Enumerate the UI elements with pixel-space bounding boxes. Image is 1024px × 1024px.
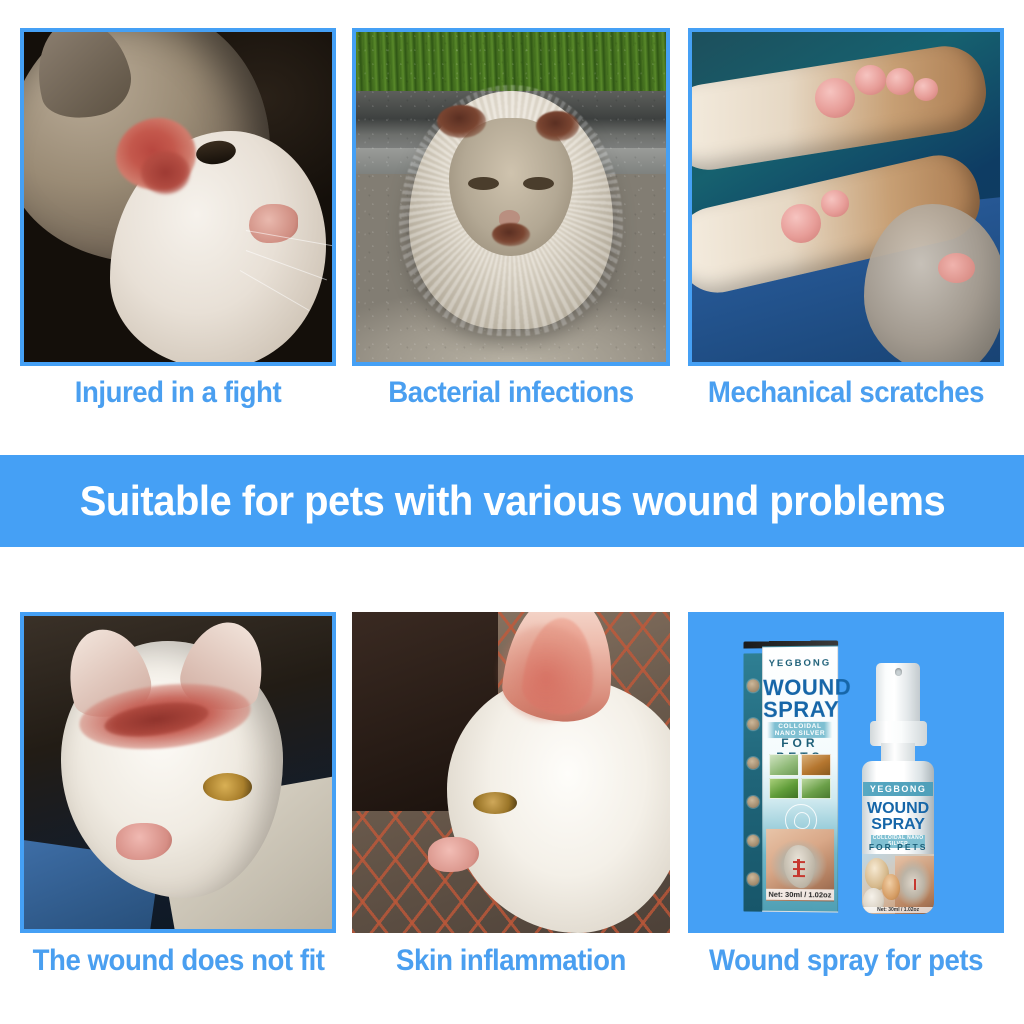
- box-front-panel: YEGBONG WOUND SPRAY COLLOIDAL NANO SILVE…: [762, 645, 838, 913]
- bottle-audience-label: FOR PETS: [863, 842, 933, 852]
- caption-wound-spray-for-pets: Wound spray for pets: [701, 946, 992, 976]
- ingredient-aloe-photo: [769, 754, 799, 775]
- photo-head-wound-cat: [24, 616, 332, 929]
- panel-skin-inflammation: [352, 612, 670, 933]
- box-side-thumb: [747, 873, 759, 885]
- panel-the-wound-does-not-fit: [20, 612, 336, 933]
- caption-skin-inflammation: Skin inflammation: [365, 946, 658, 976]
- caption-bacterial-infections: Bacterial infections: [365, 378, 658, 408]
- bottle-pet-photo: Net: 30ml / 1.02oz: [862, 854, 935, 914]
- caption-injured-in-a-fight: Injured in a fight: [33, 378, 324, 408]
- bottle-cap-button-icon: [895, 668, 902, 675]
- bottle-net-weight: Net: 30ml / 1.02oz: [862, 907, 935, 913]
- banner-suitable-for-pets: Suitable for pets with various wound pro…: [0, 455, 1024, 547]
- box-ingredient-grid: [769, 754, 831, 799]
- photo-inflamed-ear-cat: [352, 612, 670, 933]
- box-paw-photo: Net: 30ml / 1.02oz: [766, 829, 834, 901]
- panel-mechanical-scratches: [688, 28, 1004, 366]
- box-side-thumb: [747, 718, 759, 730]
- photo-product: YEGBONG WOUND SPRAY COLLOIDAL NANO SILVE…: [688, 612, 1004, 933]
- bottle-cat-image: [882, 874, 899, 900]
- banner-text: Suitable for pets with various wound pro…: [79, 477, 944, 525]
- box-side-panel: [744, 653, 764, 912]
- ingredient-mint-photo: [801, 777, 831, 799]
- photo-infected-cat: [356, 32, 666, 362]
- box-side-thumb: [747, 834, 759, 846]
- panel-bacterial-infections: [352, 28, 670, 366]
- box-net-weight: Net: 30ml / 1.02oz: [766, 889, 834, 901]
- product-box: YEGBONG WOUND SPRAY COLLOIDAL NANO SILVE…: [744, 645, 839, 913]
- bottle-title-line2: SPRAY: [863, 817, 933, 833]
- box-brand-label: YEGBONG: [763, 657, 837, 669]
- ingredient-plant-photo: [769, 777, 799, 798]
- box-side-thumb: [747, 679, 759, 691]
- photo-cat-paws: [692, 32, 1000, 362]
- bottle-pump-collar: [870, 721, 927, 746]
- ingredient-spice-photo: [801, 754, 831, 776]
- marketing-image: Injured in a fight Bacterial infections …: [0, 0, 1024, 1024]
- photo-injured-cat: [24, 32, 332, 362]
- box-side-thumb: [747, 795, 759, 807]
- box-title-line2: SPRAY: [763, 698, 837, 720]
- bottle-spray-cap: [876, 663, 920, 723]
- bottle-brand-label: YEGBONG: [863, 782, 933, 796]
- product-bottle: YEGBONG WOUND SPRAY COLLOIDAL NANO SILVE…: [859, 663, 938, 913]
- box-side-thumb: [747, 757, 759, 769]
- bottle-title-line1: WOUND: [863, 801, 933, 817]
- panel-wound-spray-for-pets: YEGBONG WOUND SPRAY COLLOIDAL NANO SILVE…: [688, 612, 1004, 933]
- caption-mechanical-scratches: Mechanical scratches: [701, 378, 992, 408]
- panel-injured-in-a-fight: [20, 28, 336, 366]
- caption-the-wound-does-not-fit: The wound does not fit: [33, 946, 324, 976]
